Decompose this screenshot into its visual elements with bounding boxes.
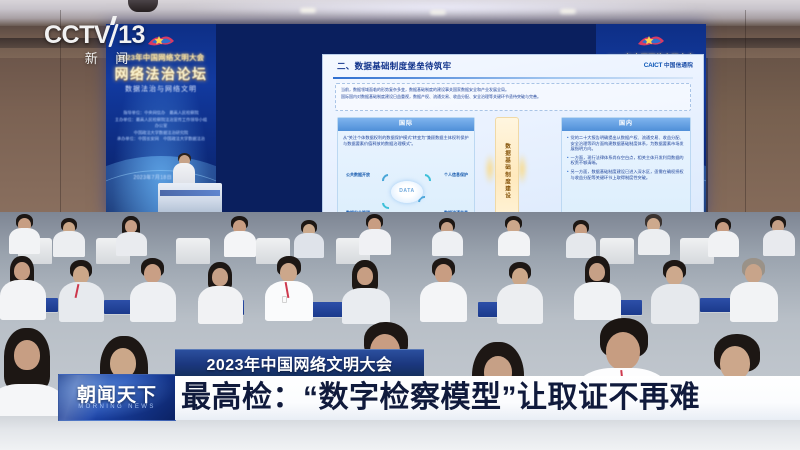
podium-nameplate bbox=[160, 190, 220, 196]
panel-header-domestic: 国内 bbox=[562, 118, 690, 131]
panel-bullet-row: • 一方面，现行法律体系尚存空白点，相关主体开发利用数据的权责不够清晰。 bbox=[567, 155, 685, 169]
ceiling-spotlight bbox=[300, 8, 316, 13]
bullet-dot-icon: • bbox=[567, 135, 569, 155]
foreground-desk bbox=[0, 416, 800, 450]
slide-title: 二、数据基础制度堡垒待筑牢 bbox=[337, 60, 451, 72]
ceiling-light-glow bbox=[180, 0, 700, 18]
banner-organizers-left: 指导单位：中央网信办 最高人民检察院主办单位：最高人民检察院法治宣传工作领导小组… bbox=[114, 110, 208, 143]
slide-center-label-text: 数据基础制度建设 bbox=[502, 143, 512, 200]
panel-bullet-1: 党的二十大报告明确提出从数据产权、流通交易、收益分配、安全治理等四方面构建数据基… bbox=[571, 135, 685, 152]
lower-third-topic-text: 2023年中国网络文明大会 bbox=[206, 351, 392, 375]
lower-third-headline-bar: 最高检：“数字检察模型”让取证不再难 bbox=[175, 376, 800, 420]
slide-title-rule bbox=[333, 77, 693, 79]
slide-panel-domestic: 国内 • 党的二十大报告明确提出从数据产权、流通交易、收益分配、安全治理等四方面… bbox=[561, 117, 691, 225]
lower-third-headline-text: 最高检：“数字检察模型”让取证不再难 bbox=[175, 381, 700, 415]
data-core-bubble: DATA bbox=[391, 181, 423, 203]
broadcast-frame: 2023年中国网络文明大会 网络法治论坛 数据法治与网络文明 指导单位：中央网信… bbox=[0, 0, 800, 450]
caict-logo: CAICT 中国信通院 bbox=[644, 61, 693, 69]
banner-line3-left: 数据法治与网络文明 bbox=[106, 84, 216, 94]
panel-bullet-3: 另一方面，数据基础制度建设已进入深水区，亟需在确权授权与收益分配等关键环节上取得… bbox=[571, 169, 685, 180]
bullet-dot-icon: • bbox=[567, 169, 569, 183]
data-core-label: DATA bbox=[391, 188, 423, 194]
slide-panel-international: 国际 从“关注个体数据权利的数据保护模式”转变为“兼顾数据主体权利保护与数据要素… bbox=[337, 117, 475, 225]
slide-note-box: 当前，数据领域面临的形势复杂多变，数据基础制度的建设事关国家数据安全和产业发展全… bbox=[335, 83, 691, 111]
bullet-dot-icon: • bbox=[567, 155, 569, 169]
lower-third-topic-bar: 2023年中国网络文明大会 bbox=[175, 349, 424, 376]
podium bbox=[158, 183, 222, 215]
slide-center-label: 数据基础制度建设 bbox=[495, 117, 519, 225]
cctv-channel-sub: 新 闻 bbox=[64, 48, 156, 66]
banner-date-left: 2023年7月18日 · 厦门 bbox=[106, 174, 216, 181]
panel-bullet-row: • 另一方面，数据基础制度建设已进入深水区，亟需在确权授权与收益分配等关键环节上… bbox=[567, 169, 685, 183]
data-label-1: 公共数据开放 bbox=[346, 172, 370, 178]
cctv-network-text: CCTV bbox=[44, 21, 110, 50]
cctv-channel-number: 13 bbox=[118, 21, 145, 50]
data-label-2: 个人信息保护 bbox=[444, 172, 468, 178]
wall-seam bbox=[745, 10, 746, 240]
panel-text-international: 从“关注个体数据权利的数据保护模式”转变为“兼顾数据主体权利保护与数据要素价值释… bbox=[343, 135, 469, 146]
program-name-en: MORNING NEWS bbox=[59, 404, 175, 410]
audience-row-back bbox=[0, 212, 800, 262]
ceiling-vent-icon bbox=[128, 0, 158, 12]
presentation-slide: 二、数据基础制度堡垒待筑牢 CAICT 中国信通院 当前，数据领域面临的形势复杂… bbox=[322, 54, 704, 234]
ceiling-spotlight bbox=[560, 9, 576, 14]
caict-logo-mark: CAICT bbox=[644, 62, 663, 69]
audience-row-middle bbox=[0, 256, 800, 322]
caict-logo-text: 中国信通院 bbox=[664, 63, 693, 69]
panel-bullet-2: 一方面，现行法律体系尚存空白点，相关主体开发利用数据的权责不够清晰。 bbox=[571, 155, 685, 166]
panel-header-international: 国际 bbox=[338, 118, 474, 131]
slide-note-line: 当前，数据领域面临的形势复杂多变，数据基础制度的建设事关国家数据安全和产业发展全… bbox=[341, 87, 685, 92]
program-logo: 朝闻天下 MORNING NEWS bbox=[58, 374, 176, 421]
ceiling-spotlight bbox=[430, 10, 446, 15]
center-glow-left bbox=[485, 153, 495, 185]
panel-bullet-row: • 党的二十大报告明确提出从数据产权、流通交易、收益分配、安全治理等四方面构建数… bbox=[567, 135, 685, 155]
cctv-wordmark: CCTV 13 bbox=[44, 22, 166, 48]
slide-note-line: 国际国内对数据基础制度建设日益重视，数据产权、流通交易、收益分配、安全治理等关键… bbox=[341, 94, 685, 99]
program-name-cn: 朝闻天下 bbox=[59, 380, 175, 407]
panel-body-domestic: • 党的二十大报告明确提出从数据产权、流通交易、收益分配、安全治理等四方面构建数… bbox=[562, 131, 690, 224]
conference-emblem-icon bbox=[636, 33, 666, 49]
banner-line2-left: 网络法治论坛 bbox=[106, 64, 216, 84]
cctv-logo: CCTV 13 新 闻 bbox=[44, 22, 166, 66]
